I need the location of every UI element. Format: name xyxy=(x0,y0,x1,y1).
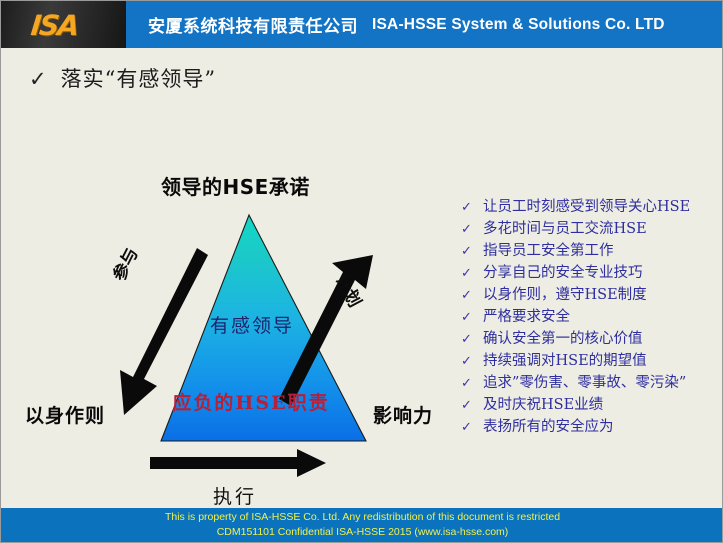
logo-text: ISA xyxy=(29,9,79,42)
check-icon: ✓ xyxy=(29,69,47,90)
check-icon: ✓ xyxy=(453,219,483,240)
list-item: ✓确认安全第一的核心价值 xyxy=(453,329,721,350)
list-item-label: 分享自己的安全专业技巧 xyxy=(483,263,721,284)
list-item: ✓多花时间与员工交流HSE xyxy=(453,219,721,240)
slide-header: ISA 安厦系统科技有限责任公司 ISA-HSSE System & Solut… xyxy=(1,1,723,48)
check-icon: ✓ xyxy=(453,395,483,416)
list-item-label: 严格要求安全 xyxy=(483,307,721,328)
check-icon: ✓ xyxy=(453,307,483,328)
list-item: ✓指导员工安全第工作 xyxy=(453,241,721,262)
list-item: ✓持续强调对HSE的期望值 xyxy=(453,351,721,372)
check-icon: ✓ xyxy=(453,263,483,284)
footer-line-1: This is property of ISA-HSSE Co. Ltd. An… xyxy=(165,510,560,525)
list-item-label: 确认安全第一的核心价值 xyxy=(483,329,721,350)
slide-canvas: ISA 安厦系统科技有限责任公司 ISA-HSSE System & Solut… xyxy=(0,0,723,543)
list-item: ✓及时庆祝HSE业绩 xyxy=(453,395,721,416)
check-icon: ✓ xyxy=(453,197,483,218)
list-item: ✓追求”零伤害、零事故、零污染” xyxy=(453,373,721,394)
footer-line-2: CDM151101 Confidential ISA-HSSE 2015 (ww… xyxy=(217,525,509,540)
check-icon: ✓ xyxy=(453,285,483,306)
header-title-bar: 安厦系统科技有限责任公司 ISA-HSSE System & Solutions… xyxy=(126,1,723,48)
triangle-base-label: 应负的HSE职责 xyxy=(156,388,346,415)
slide-title: ✓ 落实“有感领导” xyxy=(29,63,216,93)
check-icon: ✓ xyxy=(453,417,483,438)
triangle-middle-label: 有感领导 xyxy=(187,311,317,338)
company-logo: ISA xyxy=(1,1,126,48)
slide-title-text: 落实“有感领导” xyxy=(61,63,216,93)
bottom-arrow-label: 执行 xyxy=(213,482,257,509)
check-icon: ✓ xyxy=(453,329,483,350)
bullet-list: ✓让员工时刻感受到领导关心HSE✓多花时间与员工交流HSE✓指导员工安全第工作✓… xyxy=(453,197,721,439)
list-item: ✓分享自己的安全专业技巧 xyxy=(453,263,721,284)
left-side-label: 以身作则 xyxy=(25,401,105,428)
list-item-label: 指导员工安全第工作 xyxy=(483,241,721,262)
list-item-label: 持续强调对HSE的期望值 xyxy=(483,351,721,372)
list-item: ✓表扬所有的安全应为 xyxy=(453,417,721,438)
check-icon: ✓ xyxy=(453,373,483,394)
list-item-label: 让员工时刻感受到领导关心HSE xyxy=(483,197,721,218)
bottom-arrow-icon xyxy=(150,449,326,477)
list-item: ✓严格要求安全 xyxy=(453,307,721,328)
pyramid-diagram: 领导的HSE承诺 xyxy=(1,151,451,511)
list-item-label: 表扬所有的安全应为 xyxy=(483,417,721,438)
list-item: ✓以身作则，遵守HSE制度 xyxy=(453,285,721,306)
slide-footer: This is property of ISA-HSSE Co. Ltd. An… xyxy=(1,508,723,542)
check-icon: ✓ xyxy=(453,241,483,262)
list-item-label: 追求”零伤害、零事故、零污染” xyxy=(483,373,721,394)
header-title-english: ISA-HSSE System & Solutions Co. LTD xyxy=(372,16,665,34)
right-side-label: 影响力 xyxy=(373,401,433,428)
list-item: ✓让员工时刻感受到领导关心HSE xyxy=(453,197,721,218)
header-title-chinese: 安厦系统科技有限责任公司 xyxy=(148,12,358,37)
check-icon: ✓ xyxy=(453,351,483,372)
list-item-label: 以身作则，遵守HSE制度 xyxy=(483,285,721,306)
list-item-label: 多花时间与员工交流HSE xyxy=(483,219,721,240)
list-item-label: 及时庆祝HSE业绩 xyxy=(483,395,721,416)
